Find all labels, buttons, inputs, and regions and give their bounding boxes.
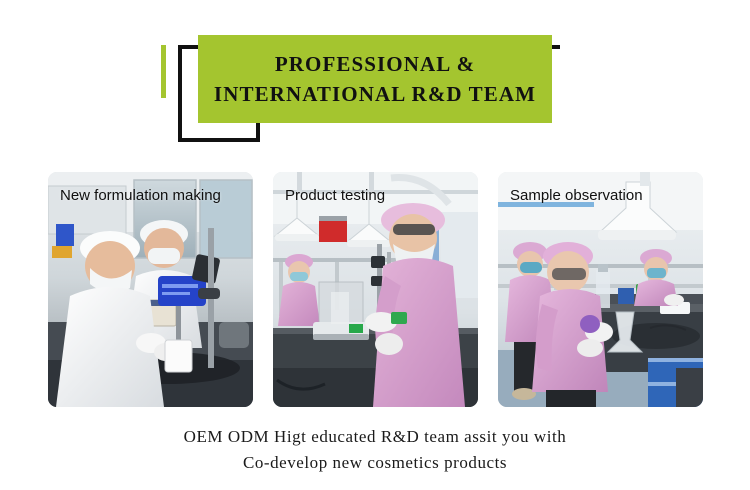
banner-accent-bar <box>161 45 166 98</box>
photo-card-new-formulation-making[interactable]: New formulation making <box>48 172 253 407</box>
sample-observation-photo <box>498 172 703 407</box>
card-label: Product testing <box>285 186 470 205</box>
photo-card-sample-observation[interactable]: Sample observation <box>498 172 703 407</box>
photo-card-list: New formulation making <box>48 172 703 407</box>
product-testing-photo <box>273 172 478 407</box>
footer-caption: OEM ODM Higt educated R&D team assit you… <box>0 424 750 476</box>
photo-card-product-testing[interactable]: Product testing <box>273 172 478 407</box>
banner-green-block: PROFESSIONAL & INTERNATIONAL R&D TEAM <box>198 35 552 123</box>
banner: PROFESSIONAL & INTERNATIONAL R&D TEAM <box>0 0 750 160</box>
lab-mixing-photo <box>48 172 253 407</box>
card-label: New formulation making <box>60 186 245 205</box>
banner-frame-bottom-line <box>178 138 260 142</box>
card-label: Sample observation <box>510 186 695 205</box>
page-title: PROFESSIONAL & INTERNATIONAL R&D TEAM <box>214 49 536 109</box>
